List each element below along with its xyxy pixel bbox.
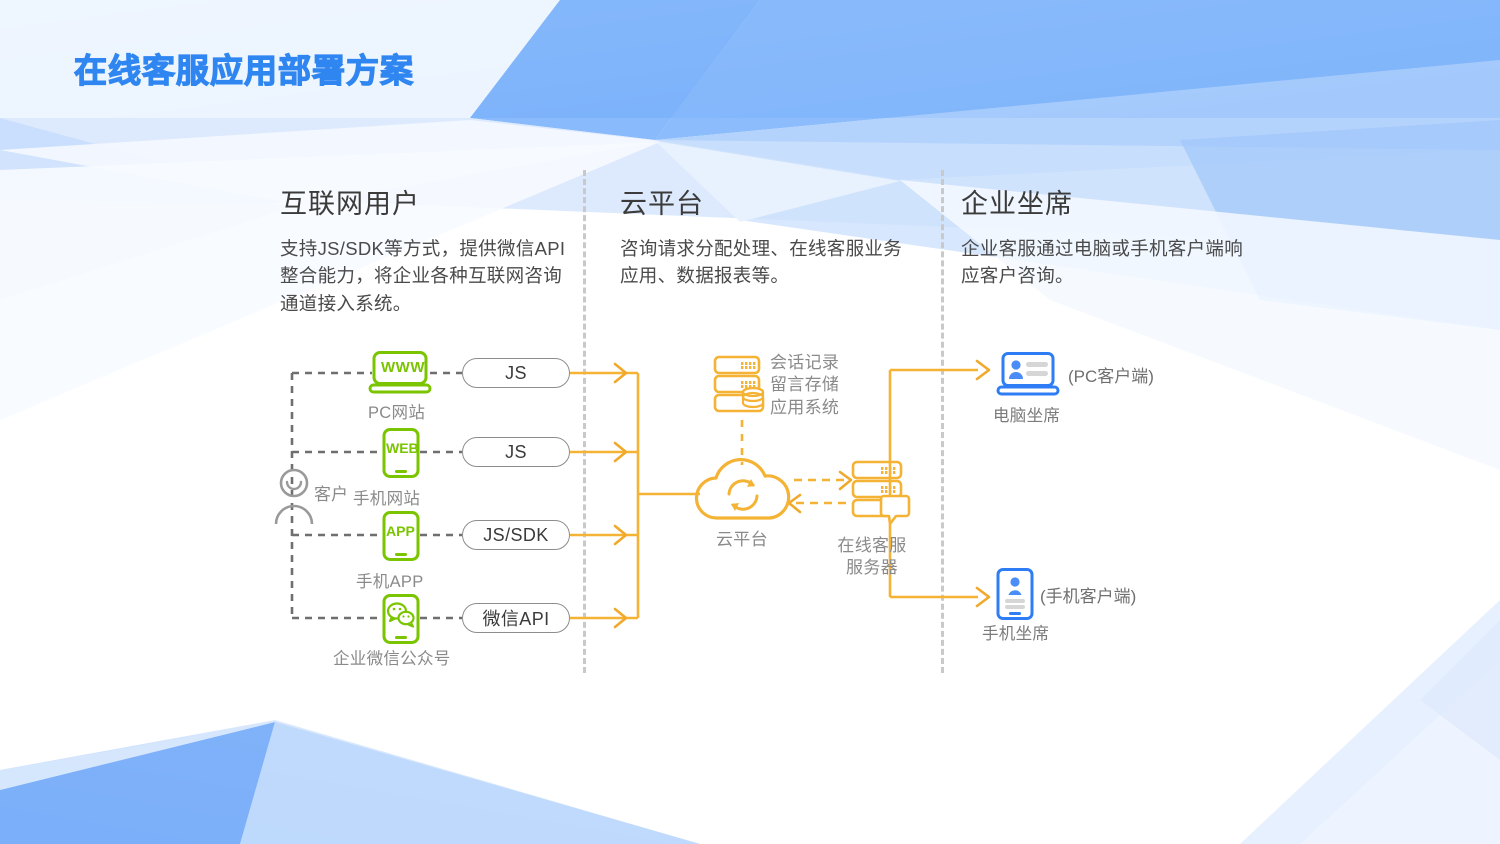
laptop-user-icon [997,352,1059,398]
pc-client-tag: (PC客户端) [1068,362,1154,387]
pc-website-label: PC网站 [368,399,425,423]
cloud-sync-icon [693,462,793,524]
slide-canvas: 在线客服应用部署方案 互联网用户 支持JS/SDK等方式，提供微信API整合能力… [0,0,1500,844]
database-stack-icon [713,355,771,417]
customer-person-icon [272,468,316,524]
pill-label: JS [505,363,527,384]
mobile-website-label: 手机网站 [353,485,420,509]
phone-user-icon [996,568,1034,620]
pill-wechat-api[interactable]: 微信API [462,603,570,633]
pill-js-sdk[interactable]: JS/SDK [462,520,570,550]
wechat-official-label: 企业微信公众号 [333,645,451,669]
chat-server-icon [851,460,913,526]
phone-web-icon: WEB [382,428,420,478]
pill-label: JS/SDK [483,525,548,546]
pill-js-pc[interactable]: JS [462,358,570,388]
connector-lines [0,0,1500,844]
pill-js-mobile[interactable]: JS [462,437,570,467]
pc-agent-label: 电脑坐席 [993,402,1060,426]
laptop-www-icon: WWW [369,351,431,395]
customer-label: 客户 [314,480,348,505]
online-service-server-label: 在线客服 服务器 [817,535,927,580]
pill-label: JS [505,442,527,463]
mobile-agent-label: 手机坐席 [982,620,1049,644]
cloud-platform-label: 云平台 [716,525,768,550]
pill-label: 微信API [482,605,549,631]
mobile-client-tag: (手机客户端) [1040,582,1136,607]
phone-wechat-icon [382,594,420,644]
phone-app-icon: APP [382,511,420,561]
storage-label: 会话记录 留言存储 应用系统 [770,352,839,419]
mobile-app-label: 手机APP [356,568,424,592]
